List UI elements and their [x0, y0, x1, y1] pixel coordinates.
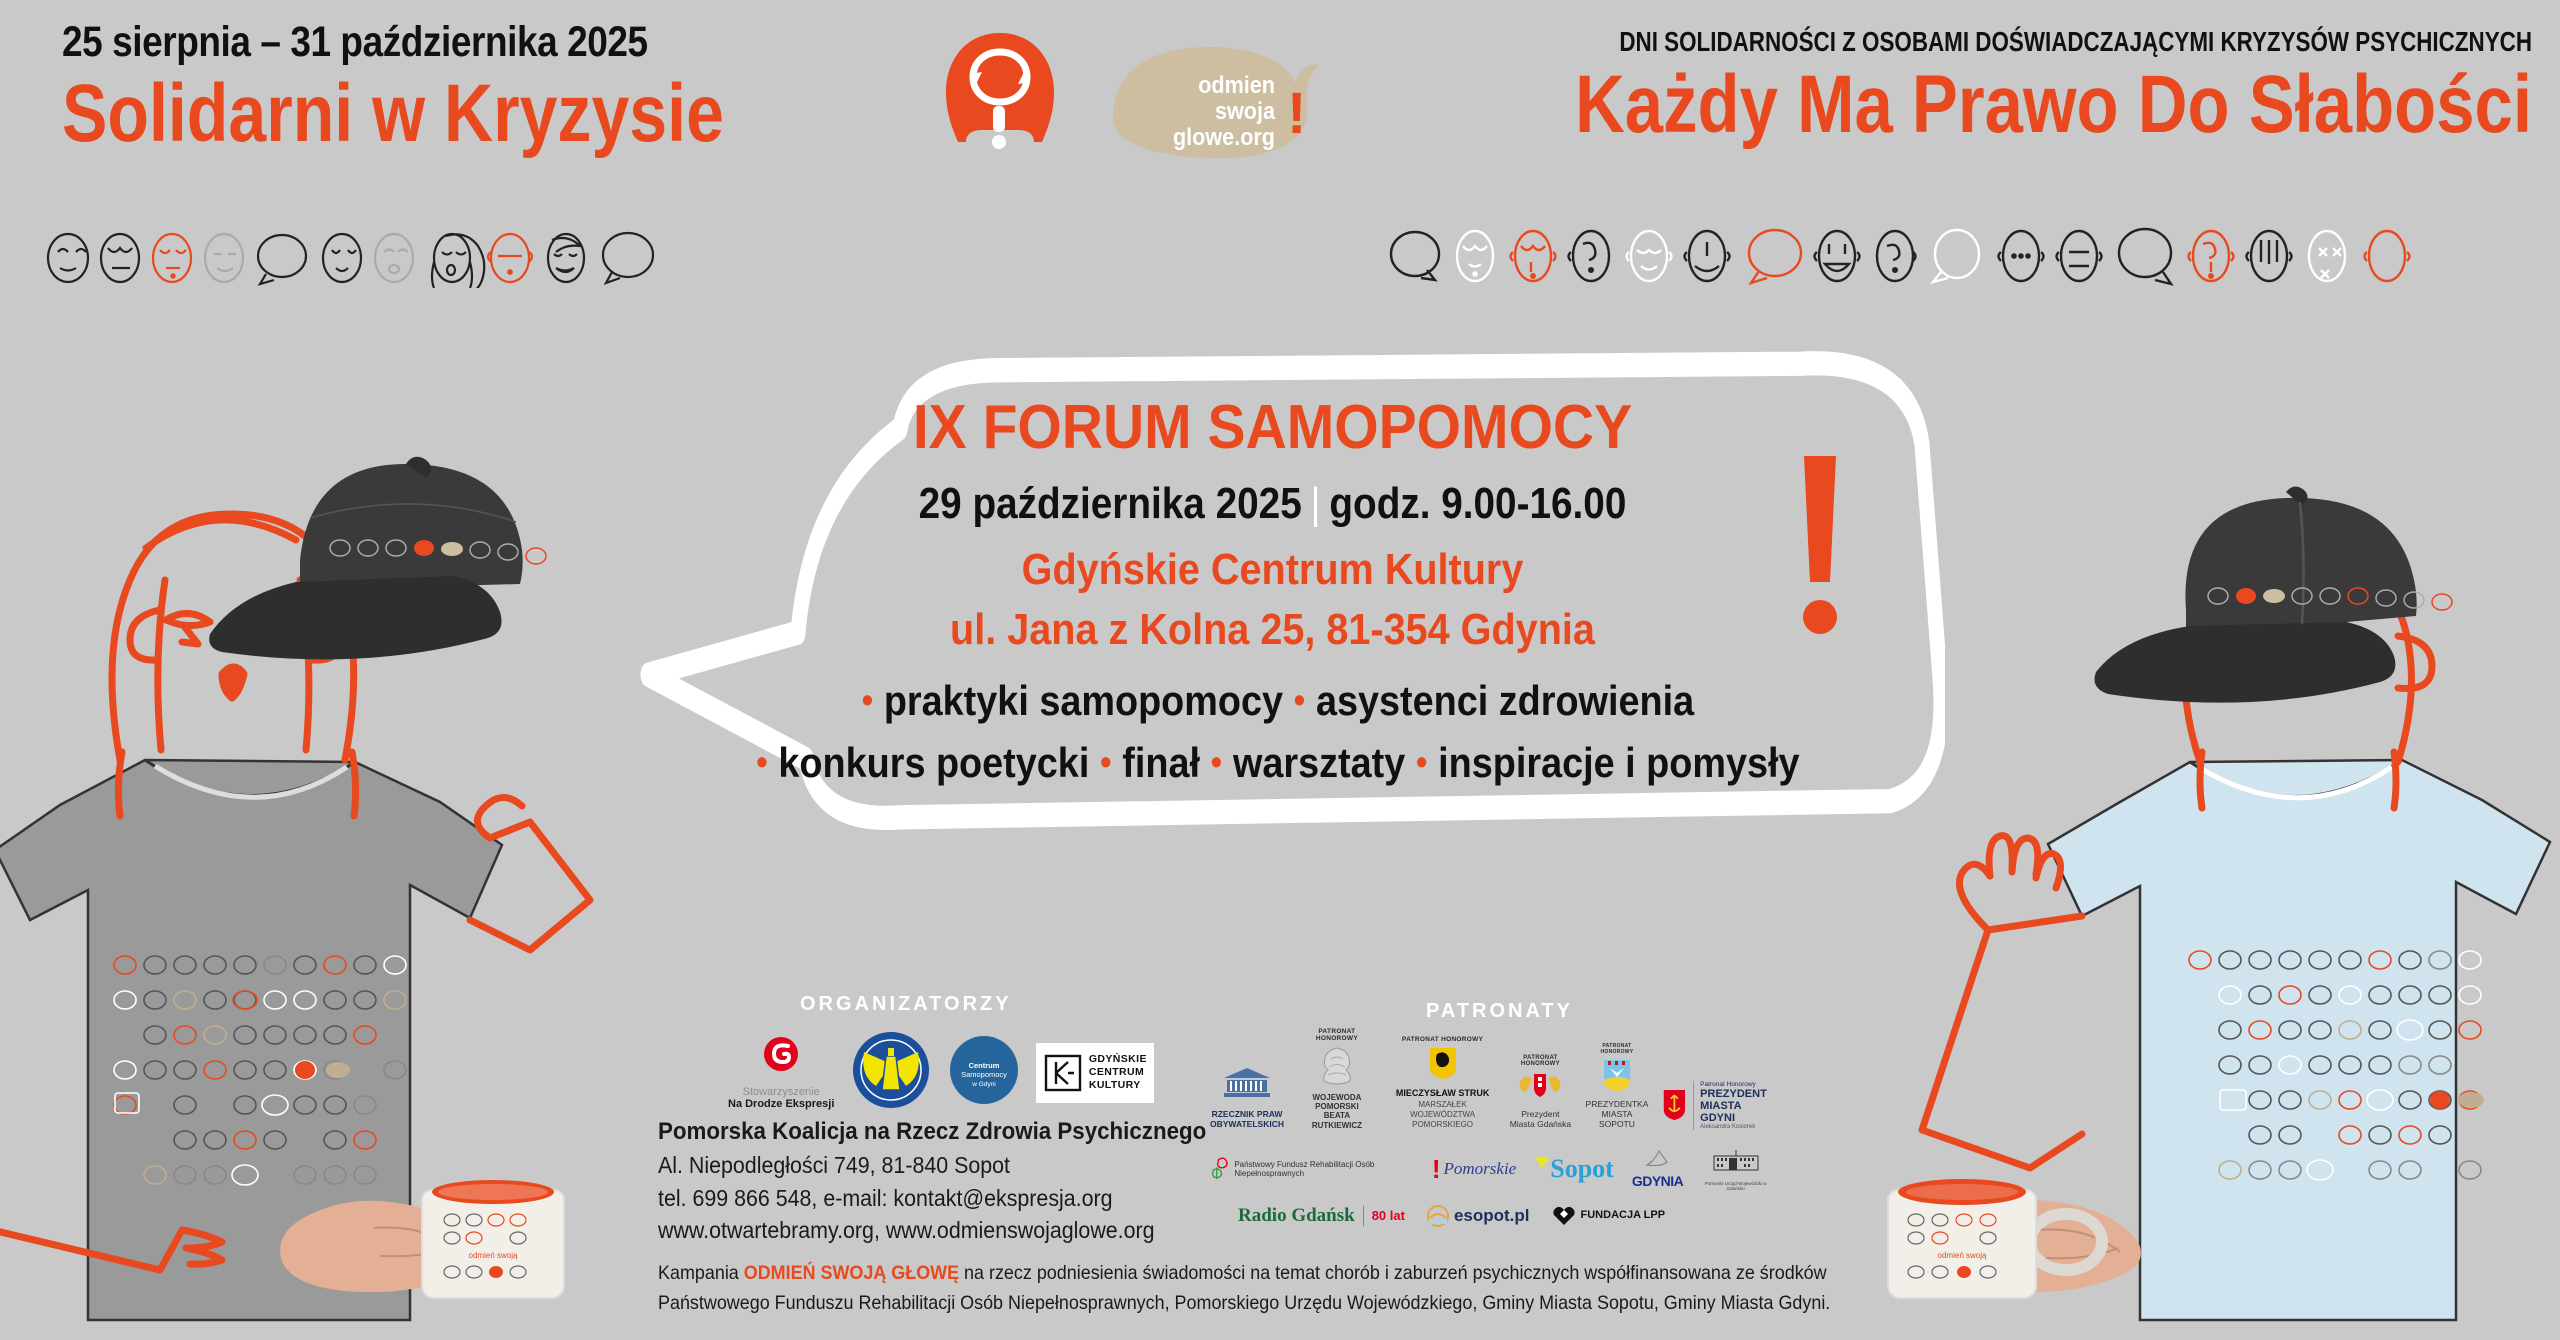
- logo-exclamation-icon: !: [1287, 85, 1306, 143]
- patron-caption: Prezydent Miasta Gdańska: [1509, 1110, 1571, 1130]
- bullet-item: inspiracje i pomysły: [1438, 739, 1799, 786]
- logo-text: odmien swoja glowe.org: [1147, 73, 1275, 151]
- event-datetime: 29 października 2025|godz. 9.00-16.00: [681, 479, 1865, 529]
- patron-title2: OBYWATELSKICH: [1210, 1119, 1284, 1129]
- gck-line2: CENTRUM: [1089, 1066, 1147, 1079]
- funding-note-line-2: Państwowego Funduszu Rehabilitacji Osób …: [658, 1288, 1744, 1318]
- sponsor-pomorskie-label: Pomorskie: [1444, 1159, 1517, 1179]
- patron-title3: WOJEWÓDZTWA POMORSKIEGO: [1410, 1110, 1475, 1129]
- logo-line-2: swoja: [1147, 99, 1275, 125]
- bullet-item: praktyki samopomocy: [884, 677, 1283, 724]
- bullet-dot-icon: •: [1211, 741, 1222, 782]
- header-right: DNI SOLIDARNOŚCI Z OSOBAMI DOŚWIADCZAJĄC…: [1342, 26, 2532, 146]
- sopot-swoosh-icon: [1534, 1156, 1550, 1170]
- patronage-heading: PATRONATY: [1426, 1000, 1573, 1023]
- svg-text:Samopomocy: Samopomocy: [961, 1070, 1007, 1079]
- patron-title: Prezydent: [1521, 1109, 1559, 1119]
- patron-marszalek-pomorskie: PATRONAT HONOROWY MIECZYSŁAW STRUK MARSZ…: [1390, 1036, 1495, 1129]
- patron-over: PATRONAT HONOROWY: [1509, 1055, 1571, 1067]
- patron-title2: MIASTA SOPOTU: [1599, 1109, 1635, 1129]
- patron-prezydent-gdyni: Patronat Honorowy PREZYDENT MIASTA GDYNI…: [1662, 1081, 1770, 1130]
- logo-line-1: odmien: [1147, 73, 1275, 99]
- bullet-item: warsztaty: [1233, 739, 1405, 786]
- patron-caption: RZECZNIK PRAW OBYWATELSKICH: [1210, 1110, 1284, 1130]
- gdansk-crest-icon: [1518, 1070, 1562, 1102]
- organizer-logo-gck: GDYŃSKIE CENTRUM KULTURY: [1036, 1043, 1154, 1103]
- event-bullets-row-2: •konkurs poetycki•finał•warsztaty•inspir…: [667, 739, 1878, 787]
- patron-title2: Miasta Gdańska: [1510, 1119, 1571, 1129]
- patron-prezydentka-sopotu: PATRONAT HONOROWY PREZYDENTKA MIASTA SOP…: [1586, 1043, 1649, 1129]
- sponsor-puw: Pomorski Urząd Wojewódzki w Gdańsku: [1701, 1148, 1770, 1191]
- campaign-title-left: Solidarni w Kryzysie: [62, 73, 743, 155]
- event-address: ul. Jana z Kolna 25, 81-354 Gdynia: [667, 605, 1878, 655]
- right-character-illustration: odmień swoją: [1870, 430, 2560, 1340]
- patron-caption: PREZYDENTKA MIASTA SOPOTU: [1586, 1100, 1649, 1129]
- event-bullets-row-1: •praktyki samopomocy•asystenci zdrowieni…: [667, 677, 1878, 725]
- patron-title: Patronat Honorowy: [1700, 1081, 1770, 1088]
- gdynia-caption: Patronat Honorowy PREZYDENT MIASTA GDYNI…: [1693, 1081, 1770, 1130]
- bullet-dot-icon: •: [1100, 741, 1111, 782]
- gdynia-crest-icon: [1662, 1086, 1687, 1124]
- event-separator: |: [1311, 479, 1321, 528]
- gck-line3: KULTURY: [1089, 1079, 1147, 1092]
- patron-title2: BEATA RUTKIEWICZ: [1312, 1111, 1362, 1129]
- radio-gdansk-anniversary: 80 lat: [1372, 1208, 1405, 1223]
- contact-phone-email[interactable]: tel. 699 866 548, e-mail: kontakt@ekspre…: [658, 1182, 1206, 1215]
- bullet-item: finał: [1122, 739, 1200, 786]
- patron-over: PATRONAT HONOROWY: [1298, 1028, 1376, 1042]
- head-refresh-icon: [930, 30, 1070, 155]
- bullet-item: asystenci zdrowienia: [1316, 677, 1694, 724]
- funding-note-line-1: Kampania ODMIEŃ SWOJĄ GŁOWĘ na rzecz pod…: [658, 1258, 1744, 1288]
- pomorskie-exclamation-icon: !: [1432, 1156, 1441, 1182]
- event-date: 29 października 2025: [919, 479, 1302, 528]
- face-doodles-right: [1385, 226, 2545, 288]
- organizer-logo-centrum-samopomocy: Centrum Samopomocy w Gdyni: [948, 1034, 1020, 1111]
- patron-rzecznik-praw-obywatelskich: RZECZNIK PRAW OBYWATELSKICH: [1210, 1063, 1284, 1130]
- funding-note: Kampania ODMIEŃ SWOJĄ GŁOWĘ na rzecz pod…: [658, 1258, 1744, 1318]
- header-left: 25 sierpnia – 31 października 2025 Solid…: [62, 18, 882, 155]
- contact-org: Pomorska Koalicja na Rzecz Zdrowia Psych…: [658, 1115, 1206, 1149]
- contact-address: Al. Niepodległości 749, 81-840 Sopot: [658, 1149, 1206, 1182]
- patron-title: PREZYDENTKA: [1586, 1099, 1649, 1109]
- sponsor-pomorskie: ! Pomorskie: [1432, 1156, 1516, 1182]
- patron-title4: Aleksandra Kosiorek: [1700, 1124, 1770, 1130]
- patron-title3: MIASTA GDYNI: [1700, 1100, 1770, 1124]
- gdynia-sail-icon: [1641, 1150, 1675, 1168]
- radio-gdansk-label: Radio Gdańsk: [1238, 1205, 1355, 1227]
- patron-prezydent-gdanska: PATRONAT HONOROWY Prezydent Miasta Gdańs…: [1509, 1055, 1571, 1130]
- patron-over: PATRONAT HONOROWY: [1586, 1043, 1649, 1055]
- gck-label: GDYŃSKIE CENTRUM KULTURY: [1089, 1053, 1147, 1092]
- svg-text:odmień swoją: odmień swoją: [469, 1251, 518, 1260]
- funding-campaign-name: ODMIEŃ SWOJĄ GŁOWĘ: [744, 1262, 959, 1284]
- organizers-heading: ORGANIZATORZY: [800, 993, 1012, 1016]
- event-title: IX FORUM SAMOPOMOCY: [654, 392, 1891, 463]
- rpo-columns-icon: [1220, 1066, 1274, 1102]
- patron-title: RZECZNIK PRAW: [1212, 1109, 1283, 1119]
- patronage-row-3: Radio Gdańsk 80 lat esopot.pl FUNDACJA L…: [1210, 1205, 1770, 1227]
- bullet-item: konkurs poetycki: [778, 739, 1089, 786]
- organizer-logo-koalicja: [850, 1030, 932, 1115]
- bullet-dot-icon: •: [862, 679, 873, 720]
- esopot-label: esopot.pl: [1454, 1206, 1530, 1226]
- bullet-dot-icon: •: [1294, 679, 1305, 720]
- sponsor-sopot-label: Sopot: [1550, 1156, 1614, 1182]
- patronage-logos: RZECZNIK PRAW OBYWATELSKICH PATRONAT HON…: [1210, 1028, 1770, 1237]
- sponsor-puw-label: Pomorski Urząd Wojewódzki w Gdańsku: [1701, 1181, 1770, 1191]
- bullet-dot-icon: •: [756, 741, 767, 782]
- media-fundacja-lpp: FUNDACJA LPP: [1552, 1206, 1666, 1226]
- event-venue: Gdyńskie Centrum Kultury: [667, 545, 1878, 595]
- face-doodles-left: [42, 228, 822, 288]
- event-time: godz. 9.00-16.00: [1329, 479, 1626, 528]
- campaign-subtitle: DNI SOLIDARNOŚCI Z OSOBAMI DOŚWIADCZAJĄC…: [1580, 26, 2532, 58]
- campaign-dates: 25 sierpnia – 31 października 2025: [62, 18, 767, 67]
- media-radio-gdansk: Radio Gdańsk 80 lat: [1238, 1205, 1405, 1227]
- event-speech-bubble: IX FORUM SAMOPOMOCY 29 października 2025…: [600, 336, 1945, 856]
- puw-building-icon: [1710, 1148, 1762, 1176]
- patron-wojewoda-pomorski: PATRONAT HONOROWY WOJEWODA POMORSKI BEAT…: [1298, 1028, 1376, 1130]
- patron-over: PATRONAT HONOROWY: [1390, 1036, 1495, 1043]
- event-exclamation-icon: [1790, 452, 1850, 657]
- polish-eagle-icon: [1319, 1045, 1355, 1085]
- organizer-label-line1: Stowarzyszenie: [743, 1086, 820, 1098]
- funding-prefix: Kampania: [658, 1262, 744, 1284]
- lpp-heart-icon: [1552, 1206, 1576, 1226]
- left-character-illustration: odmień swoją: [0, 430, 670, 1340]
- event-details: IX FORUM SAMOPOMOCY 29 października 2025…: [600, 392, 1945, 787]
- sponsor-sopot: Sopot: [1534, 1156, 1614, 1182]
- patron-title: MIECZYSŁAW STRUK: [1396, 1088, 1490, 1098]
- sponsor-gdynia-label: GDYNIA: [1632, 1173, 1683, 1189]
- patron-title2: PREZYDENT: [1700, 1088, 1770, 1100]
- sopot-crest-icon: [1602, 1058, 1632, 1092]
- sponsor-pfron-label: Państwowy Fundusz Rehabilitacji Osób Nie…: [1234, 1160, 1414, 1178]
- pfron-flower-icon: [1210, 1154, 1230, 1184]
- media-esopot: esopot.pl: [1427, 1205, 1530, 1227]
- pomorskie-griffin-icon: [1428, 1046, 1458, 1080]
- patronage-row-1: RZECZNIK PRAW OBYWATELSKICH PATRONAT HON…: [1210, 1028, 1770, 1130]
- odmien-swoja-glowe-logo: odmien swoja glowe.org !: [1105, 45, 1340, 160]
- campaign-title-right: Każdy Ma Prawo Do Słabości: [1532, 64, 2532, 146]
- contact-websites[interactable]: www.otwartebramy.org, www.odmienswojaglo…: [658, 1214, 1206, 1247]
- esopot-circle-icon: [1427, 1205, 1449, 1227]
- patron-title2: MARSZAŁEK: [1418, 1100, 1466, 1109]
- svg-text:Centrum: Centrum: [969, 1061, 1000, 1070]
- logo-line-3: glowe.org: [1147, 125, 1275, 151]
- organizer-logos: Stowarzyszenie Na Drodze Ekspresji Centr…: [728, 1030, 1154, 1115]
- patron-title: WOJEWODA POMORSKI: [1312, 1093, 1361, 1111]
- patronage-row-2: Państwowy Fundusz Rehabilitacji Osób Nie…: [1210, 1148, 1770, 1191]
- sponsor-gdynia: GDYNIA: [1632, 1150, 1683, 1189]
- organizer-label: Stowarzyszenie Na Drodze Ekspresji: [728, 1086, 834, 1110]
- bullet-dot-icon: •: [1416, 741, 1427, 782]
- funding-line1-rest: na rzecz podniesienia świadomości na tem…: [959, 1262, 1827, 1284]
- lpp-label: FUNDACJA LPP: [1581, 1209, 1666, 1222]
- sponsor-pfron: Państwowy Fundusz Rehabilitacji Osób Nie…: [1210, 1154, 1414, 1184]
- gck-line1: GDYŃSKIE: [1089, 1053, 1147, 1066]
- organizer-label-line2: Na Drodze Ekspresji: [728, 1098, 834, 1110]
- svg-text:w Gdyni: w Gdyni: [972, 1081, 996, 1088]
- svg-text:odmień swoją: odmień swoją: [1938, 1251, 1987, 1260]
- poster-root: 25 sierpnia – 31 października 2025 Solid…: [0, 0, 2560, 1340]
- patron-caption: WOJEWODA POMORSKI BEATA RUTKIEWICZ: [1298, 1093, 1376, 1130]
- patron-caption: MIECZYSŁAW STRUK MARSZAŁEK WOJEWÓDZTWA P…: [1390, 1088, 1495, 1129]
- organizer-logo-ekspresja: Stowarzyszenie Na Drodze Ekspresji: [728, 1035, 834, 1110]
- contact-block: Pomorska Koalicja na Rzecz Zdrowia Psych…: [658, 1115, 1206, 1247]
